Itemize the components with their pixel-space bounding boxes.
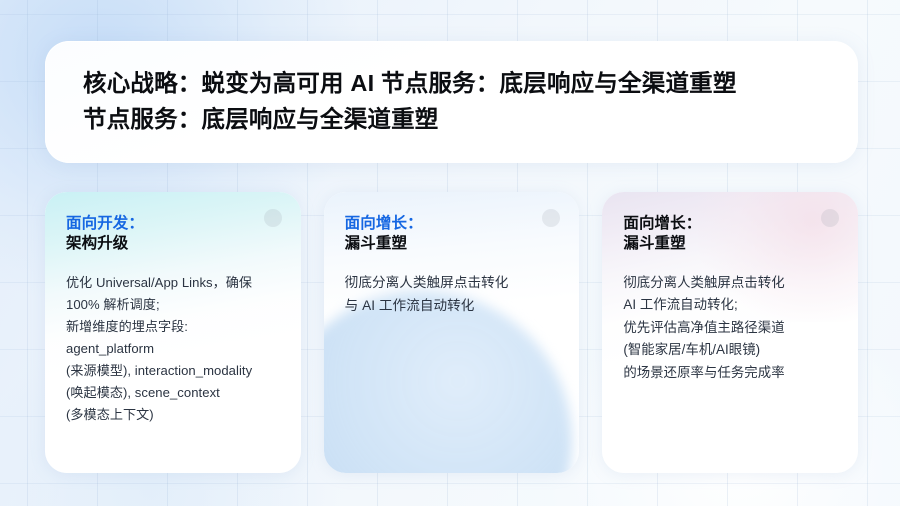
card-title: 漏斗重塑 <box>345 234 559 254</box>
card-body-line: (智能家居/车机/AI眼镜) <box>623 339 837 362</box>
content-card-row: 面向开发： 架构升级 优化 Universal/App Links，确保 100… <box>45 192 858 473</box>
card-body-line: 彻底分离人类触屏点击转化 <box>623 272 837 295</box>
card-title: 漏斗重塑 <box>623 234 837 254</box>
card-body-line: AI 工作流自动转化; <box>623 294 837 317</box>
card-body-line: 新增维度的埋点字段: <box>66 316 280 338</box>
card-body: 彻底分离人类触屏点击转化 AI 工作流自动转化; 优先评估高净值主路径渠道 (智… <box>623 272 837 385</box>
card-body-line: (唤起模态), scene_context <box>66 382 280 404</box>
content-card-growth-funnel-detail[interactable]: 面向增长： 漏斗重塑 彻底分离人类触屏点击转化 AI 工作流自动转化; 优先评估… <box>602 192 858 473</box>
content-card-growth-funnel[interactable]: 面向增长： 漏斗重塑 彻底分离人类触屏点击转化 与 AI 工作流自动转化 <box>324 192 580 473</box>
card-kicker: 面向开发： <box>66 214 280 234</box>
card-body-line: 优先评估高净值主路径渠道 <box>623 317 837 340</box>
card-body-line: 的场景还原率与任务完成率 <box>623 362 837 385</box>
card-kicker: 面向增长： <box>345 214 559 234</box>
slide-canvas: 核心战略：蜕变为高可用 AI 节点服务：底层响应与全渠道重塑 节点服务：底层响应… <box>0 0 900 506</box>
card-body-line: 优化 Universal/App Links，确保 <box>66 272 280 294</box>
sphere-decoration <box>324 291 572 473</box>
card-body-line: 彻底分离人类触屏点击转化 <box>345 272 559 295</box>
card-body-line: (来源模型), interaction_modality <box>66 360 280 382</box>
card-kicker: 面向增长： <box>623 214 837 234</box>
card-body: 彻底分离人类触屏点击转化 与 AI 工作流自动转化 <box>345 272 559 318</box>
card-body-line: 100% 解析调度; <box>66 294 280 316</box>
slide-title-line-1: 核心战略：蜕变为高可用 AI 节点服务：底层响应与全渠道重塑 <box>83 66 820 102</box>
card-title: 架构升级 <box>66 234 280 254</box>
slide-title-line-2: 节点服务：底层响应与全渠道重塑 <box>83 102 820 138</box>
content-card-architecture[interactable]: 面向开发： 架构升级 优化 Universal/App Links，确保 100… <box>45 192 301 473</box>
slide-title-card: 核心战略：蜕变为高可用 AI 节点服务：底层响应与全渠道重塑 节点服务：底层响应… <box>45 41 858 163</box>
card-body: 优化 Universal/App Links，确保 100% 解析调度; 新增维… <box>66 272 280 426</box>
card-body-line: agent_platform <box>66 338 280 360</box>
card-body-line: (多模态上下文) <box>66 404 280 426</box>
card-body-line: 与 AI 工作流自动转化 <box>345 295 559 318</box>
